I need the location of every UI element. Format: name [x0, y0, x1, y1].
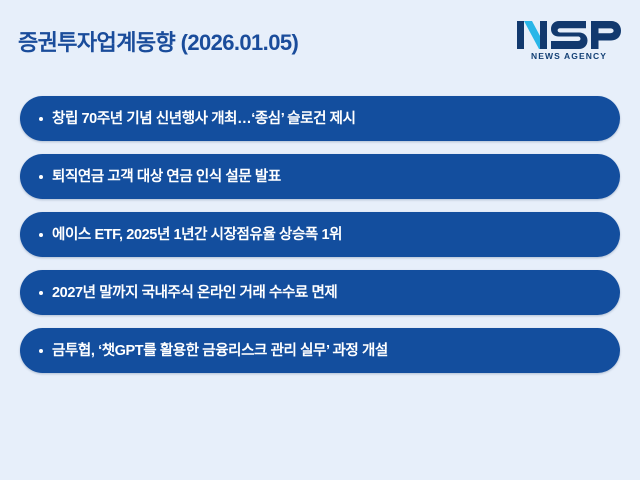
list-item-label: 퇴직연금 고객 대상 연금 인식 설문 발표 — [52, 167, 281, 187]
list-item-label: 2027년 말까지 국내주식 온라인 거래 수수료 면제 — [52, 283, 337, 303]
headline-list: 창립 70주년 기념 신년행사 개최…‘종심’ 슬로건 제시 퇴직연금 고객 대… — [20, 96, 620, 386]
list-item-label: 금투협, ‘챗GPT를 활용한 금융리스크 관리 실무’ 과정 개설 — [52, 341, 388, 361]
bullet-dot-icon — [39, 233, 43, 237]
list-item[interactable]: 퇴직연금 고객 대상 연금 인식 설문 발표 — [20, 154, 620, 199]
slide-canvas: 증권투자업계동향 (2026.01.05) NEWS AGENCY 창립 — [0, 0, 640, 480]
nsp-logo: NEWS AGENCY — [516, 20, 622, 64]
bullet-dot-icon — [39, 117, 43, 121]
nsp-logo-subtitle: NEWS AGENCY — [516, 51, 622, 61]
nsp-wordmark-svg — [516, 20, 622, 50]
slide-header: 증권투자업계동향 (2026.01.05) NEWS AGENCY — [0, 0, 640, 88]
page-title: 증권투자업계동향 (2026.01.05) — [18, 28, 298, 58]
nsp-logo-mark-icon — [516, 20, 622, 50]
bullet-dot-icon — [39, 175, 43, 179]
list-item[interactable]: 금투협, ‘챗GPT를 활용한 금융리스크 관리 실무’ 과정 개설 — [20, 328, 620, 373]
list-item[interactable]: 2027년 말까지 국내주식 온라인 거래 수수료 면제 — [20, 270, 620, 315]
bullet-dot-icon — [39, 291, 43, 295]
bullet-dot-icon — [39, 349, 43, 353]
list-item[interactable]: 에이스 ETF, 2025년 1년간 시장점유율 상승폭 1위 — [20, 212, 620, 257]
list-item[interactable]: 창립 70주년 기념 신년행사 개최…‘종심’ 슬로건 제시 — [20, 96, 620, 141]
list-item-label: 에이스 ETF, 2025년 1년간 시장점유율 상승폭 1위 — [52, 225, 342, 245]
list-item-label: 창립 70주년 기념 신년행사 개최…‘종심’ 슬로건 제시 — [52, 109, 356, 129]
